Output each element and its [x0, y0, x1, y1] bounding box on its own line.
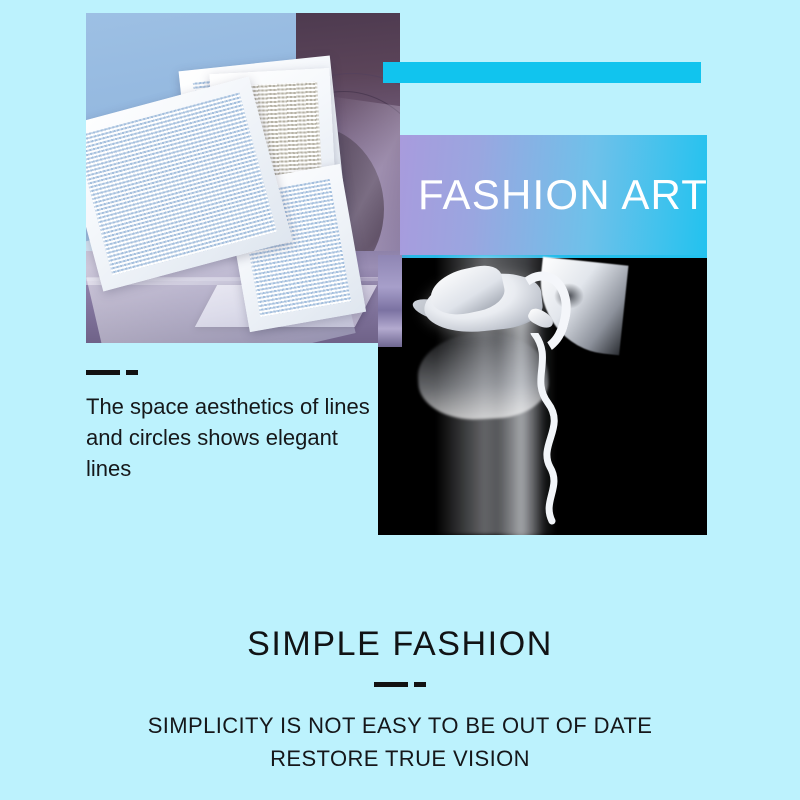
caption-text: The space aesthetics of lines and circle… — [86, 391, 386, 485]
footer-block: SIMPLE FASHION SIMPLICITY IS NOT EASY TO… — [0, 625, 800, 775]
wavy-neck-line — [528, 333, 588, 533]
dash-short-icon — [126, 370, 138, 375]
caption-block: The space aesthetics of lines and circle… — [86, 370, 386, 485]
footer-subtitle-line-1: SIMPLICITY IS NOT EASY TO BE OUT OF DATE — [0, 709, 800, 742]
footer-subtitle-line-2: RESTORE TRUE VISION — [0, 742, 800, 775]
dash-long-icon — [86, 370, 120, 375]
poster-canvas: FASHION ART The space aesthetics of line… — [0, 0, 800, 800]
footer-subtitle: SIMPLICITY IS NOT EASY TO BE OUT OF DATE… — [0, 709, 800, 775]
accent-bar — [383, 62, 701, 83]
banner-title: FASHION ART — [418, 174, 708, 216]
swan-photo-left-band — [378, 255, 402, 347]
caption-ornament — [86, 370, 386, 375]
footer-title: SIMPLE FASHION — [0, 625, 800, 664]
swan-photo — [378, 255, 707, 535]
product-photo-panels — [86, 13, 400, 343]
footer-ornament — [0, 682, 800, 687]
fashion-art-banner: FASHION ART — [400, 135, 707, 255]
dash-long-icon — [374, 682, 408, 687]
dash-short-icon — [414, 682, 426, 687]
